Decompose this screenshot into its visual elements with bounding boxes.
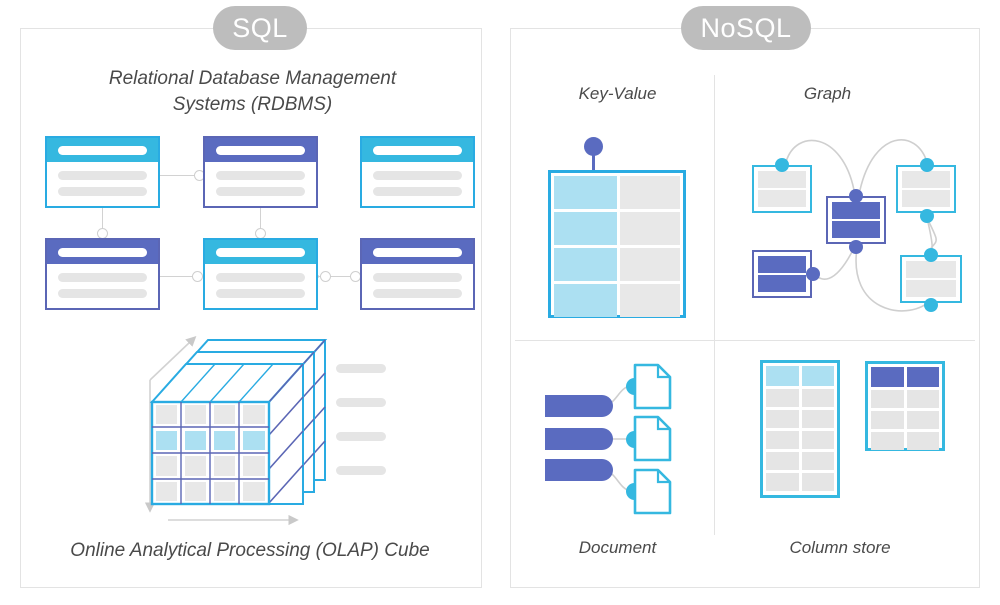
column-store-cell (802, 431, 835, 449)
graph-node-row (832, 221, 880, 238)
column-store-cell (802, 452, 835, 470)
graph-node-row (758, 190, 806, 207)
column-store-cell (871, 390, 904, 408)
er-table-4-body (47, 264, 158, 308)
document-page-icon (635, 417, 670, 460)
column-store-cell (766, 389, 799, 407)
graph-node-row (758, 275, 806, 292)
key-cell (554, 284, 617, 317)
graph-node-row (906, 280, 956, 297)
olap-legend-bar (336, 364, 386, 373)
er-table-1-body (47, 162, 158, 206)
er-table-4-field-1 (58, 273, 147, 282)
column-store-cell (907, 432, 940, 450)
key-value-table (548, 170, 686, 318)
olap-legend-bar (336, 466, 386, 475)
column-store-cell (802, 366, 835, 386)
column-store-row (766, 410, 834, 428)
er-table-2-field-1 (216, 171, 305, 180)
graph-connector-dot (920, 209, 934, 223)
olap-highlight-cell (214, 431, 235, 450)
document-page-icon (635, 470, 670, 513)
column-store-row (871, 411, 939, 429)
er-table-1-header (47, 138, 158, 162)
document-title: Document (525, 538, 710, 558)
key-value-row (554, 284, 680, 317)
er-table-1[interactable] (45, 136, 160, 208)
er-table-6-title-bar (373, 248, 462, 257)
rdbms-title-line2: Systems (RDBMS) (60, 92, 445, 118)
column-store-header-row (766, 366, 834, 386)
er-table-3[interactable] (360, 136, 475, 208)
er-table-6-body (362, 264, 473, 308)
olap-legend (336, 364, 386, 475)
graph-node-center[interactable] (826, 196, 886, 244)
graph-node-bottom-left[interactable] (752, 250, 812, 298)
er-table-5-field-1 (216, 273, 305, 282)
key-value-row (554, 212, 680, 245)
document-icons (548, 358, 708, 518)
er-table-6[interactable] (360, 238, 475, 310)
column-store-cell (871, 367, 904, 387)
value-cell (620, 284, 680, 317)
er-table-6-field-1 (373, 273, 462, 282)
column-store-table-right[interactable] (865, 361, 945, 451)
column-store-cell (802, 473, 835, 491)
olap-cube[interactable] (128, 332, 418, 532)
nosql-horizontal-divider (515, 340, 975, 341)
er-table-6-header (362, 240, 473, 264)
key-cell (554, 248, 617, 281)
er-table-2-body (205, 162, 316, 206)
key-value-title: Key-Value (525, 84, 710, 104)
key-cell (554, 212, 617, 245)
key-value-row (554, 248, 680, 281)
graph-connector-dot (849, 189, 863, 203)
er-table-2-header (205, 138, 316, 162)
graph-connector-dot (806, 267, 820, 281)
er-table-5-body (205, 264, 316, 308)
olap-highlight-cell (243, 431, 265, 450)
value-cell (620, 212, 680, 245)
graph-connector-dot (775, 158, 789, 172)
olap-cube-graphic (128, 332, 418, 532)
graph-connector-dot (920, 158, 934, 172)
column-store-cell (907, 367, 940, 387)
rdbms-title: Relational Database Management Systems (… (60, 66, 445, 118)
graph-node-top-left[interactable] (752, 165, 812, 213)
document-illustration[interactable] (548, 358, 708, 518)
graph-node-row (758, 171, 806, 188)
olap-title: Online Analytical Processing (OLAP) Cube (50, 538, 450, 564)
column-store-row (766, 452, 834, 470)
graph-node-row (832, 202, 880, 219)
er-table-2-title-bar (216, 146, 305, 155)
nosql-vertical-divider (714, 75, 715, 535)
graph-node-bottom-right[interactable] (900, 255, 962, 303)
value-cell (620, 248, 680, 281)
er-table-6-field-2 (373, 289, 462, 298)
column-store-cell (766, 410, 799, 428)
column-store-cell (907, 390, 940, 408)
column-store-row (871, 432, 939, 450)
graph-connector-dot (849, 240, 863, 254)
diagram-canvas: SQL Relational Database Management Syste… (0, 0, 1000, 605)
column-store-row (766, 473, 834, 491)
er-table-4-header (47, 240, 158, 264)
column-store-cell (871, 411, 904, 429)
column-store-cell (766, 452, 799, 470)
sql-badge: SQL (213, 6, 307, 50)
er-table-5-field-2 (216, 289, 305, 298)
key-value-illustration[interactable] (548, 140, 688, 325)
er-diagram (20, 128, 482, 318)
er-table-2[interactable] (203, 136, 318, 208)
er-table-1-field-1 (58, 171, 147, 180)
graph-title: Graph (735, 84, 920, 104)
olap-highlight-cell (156, 431, 177, 450)
graph-node-row (902, 190, 950, 207)
column-store-header-row (871, 367, 939, 387)
er-table-5[interactable] (203, 238, 318, 310)
graph-node-row (906, 261, 956, 278)
olap-highlight-cell (185, 431, 206, 450)
er-table-1-title-bar (58, 146, 147, 155)
column-store-cell (802, 389, 835, 407)
column-store-title: Column store (735, 538, 945, 558)
graph-connector-dot (924, 298, 938, 312)
er-table-3-body (362, 162, 473, 206)
nosql-badge: NoSQL (681, 6, 811, 50)
er-table-3-field-2 (373, 187, 462, 196)
er-table-3-field-1 (373, 171, 462, 180)
er-table-1-field-2 (58, 187, 147, 196)
key-cell (554, 176, 617, 209)
olap-legend-bar (336, 432, 386, 441)
er-table-4[interactable] (45, 238, 160, 310)
er-table-4-field-2 (58, 289, 147, 298)
column-store-row (871, 390, 939, 408)
column-store-illustration[interactable] (760, 360, 960, 520)
er-table-3-header (362, 138, 473, 162)
rdbms-title-line1: Relational Database Management (60, 66, 445, 92)
er-table-5-header (205, 240, 316, 264)
graph-illustration[interactable] (724, 130, 974, 330)
column-store-table-left[interactable] (760, 360, 840, 498)
column-store-cell (871, 432, 904, 450)
document-page-icon (635, 365, 670, 408)
key-value-pin-icon (584, 137, 603, 156)
value-cell (620, 176, 680, 209)
er-table-5-title-bar (216, 248, 305, 257)
graph-node-row (758, 256, 806, 273)
graph-node-top-right[interactable] (896, 165, 956, 213)
er-table-3-title-bar (373, 146, 462, 155)
olap-legend-bar (336, 398, 386, 407)
column-store-cell (766, 473, 799, 491)
er-table-2-field-2 (216, 187, 305, 196)
column-store-cell (766, 431, 799, 449)
graph-connector-dot (924, 248, 938, 262)
graph-node-row (902, 171, 950, 188)
column-store-row (766, 389, 834, 407)
er-table-4-title-bar (58, 248, 147, 257)
column-store-cell (907, 411, 940, 429)
graph-edge (816, 248, 854, 279)
column-store-cell (802, 410, 835, 428)
er-crowfoot-circle-t5t6-a (320, 271, 331, 282)
column-store-row (766, 431, 834, 449)
key-value-row (554, 176, 680, 209)
column-store-cell (766, 366, 799, 386)
